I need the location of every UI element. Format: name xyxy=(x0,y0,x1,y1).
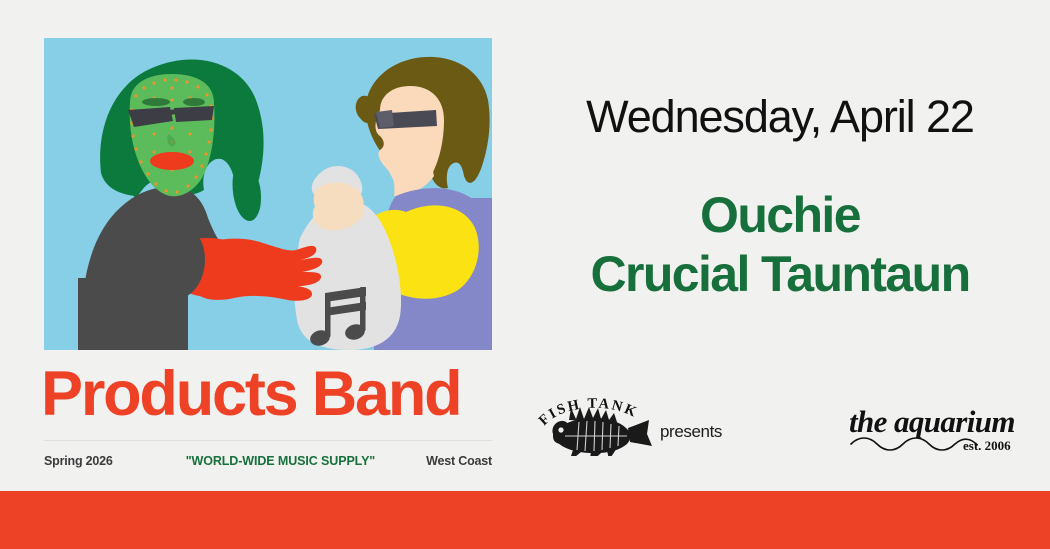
support-act-name: Crucial Tauntaun xyxy=(530,245,1030,304)
album-card: Products Band Spring 2026 "WORLD-WIDE MU… xyxy=(44,38,492,468)
album-artwork xyxy=(44,38,492,350)
album-tagline: "WORLD-WIDE MUSIC SUPPLY" xyxy=(186,454,375,468)
album-meta-row: Spring 2026 "WORLD-WIDE MUSIC SUPPLY" We… xyxy=(44,454,492,468)
aquarium-established-text: est. 2006 xyxy=(963,438,1011,453)
presents-label: presents xyxy=(660,422,722,442)
music-handoff-illustration xyxy=(44,38,492,350)
album-season: Spring 2026 xyxy=(44,454,113,468)
aquarium-name-text: the aquarium xyxy=(849,404,1015,439)
headliner-name: Ouchie xyxy=(530,186,1030,245)
event-lineup: Ouchie Crucial Tauntaun xyxy=(530,186,1030,304)
concert-poster: Products Band Spring 2026 "WORLD-WIDE MU… xyxy=(0,0,1050,549)
aquarium-wordmark-icon: the aquarium est. 2006 xyxy=(845,398,1015,460)
fish-tank-logo[interactable]: FISH TANK xyxy=(535,394,722,456)
album-region: West Coast xyxy=(426,454,492,468)
bottom-accent-bar xyxy=(0,491,1050,549)
aquarium-venue-logo[interactable]: the aquarium est. 2006 xyxy=(845,398,1015,465)
presenter-logo-row: FISH TANK xyxy=(530,392,1030,470)
album-divider xyxy=(44,440,492,441)
event-date: Wednesday, April 22 xyxy=(530,92,1030,142)
album-title: Products Band xyxy=(41,363,492,426)
fish-icon: FISH TANK xyxy=(535,394,653,456)
event-details: Wednesday, April 22 Ouchie Crucial Taunt… xyxy=(530,92,1030,304)
